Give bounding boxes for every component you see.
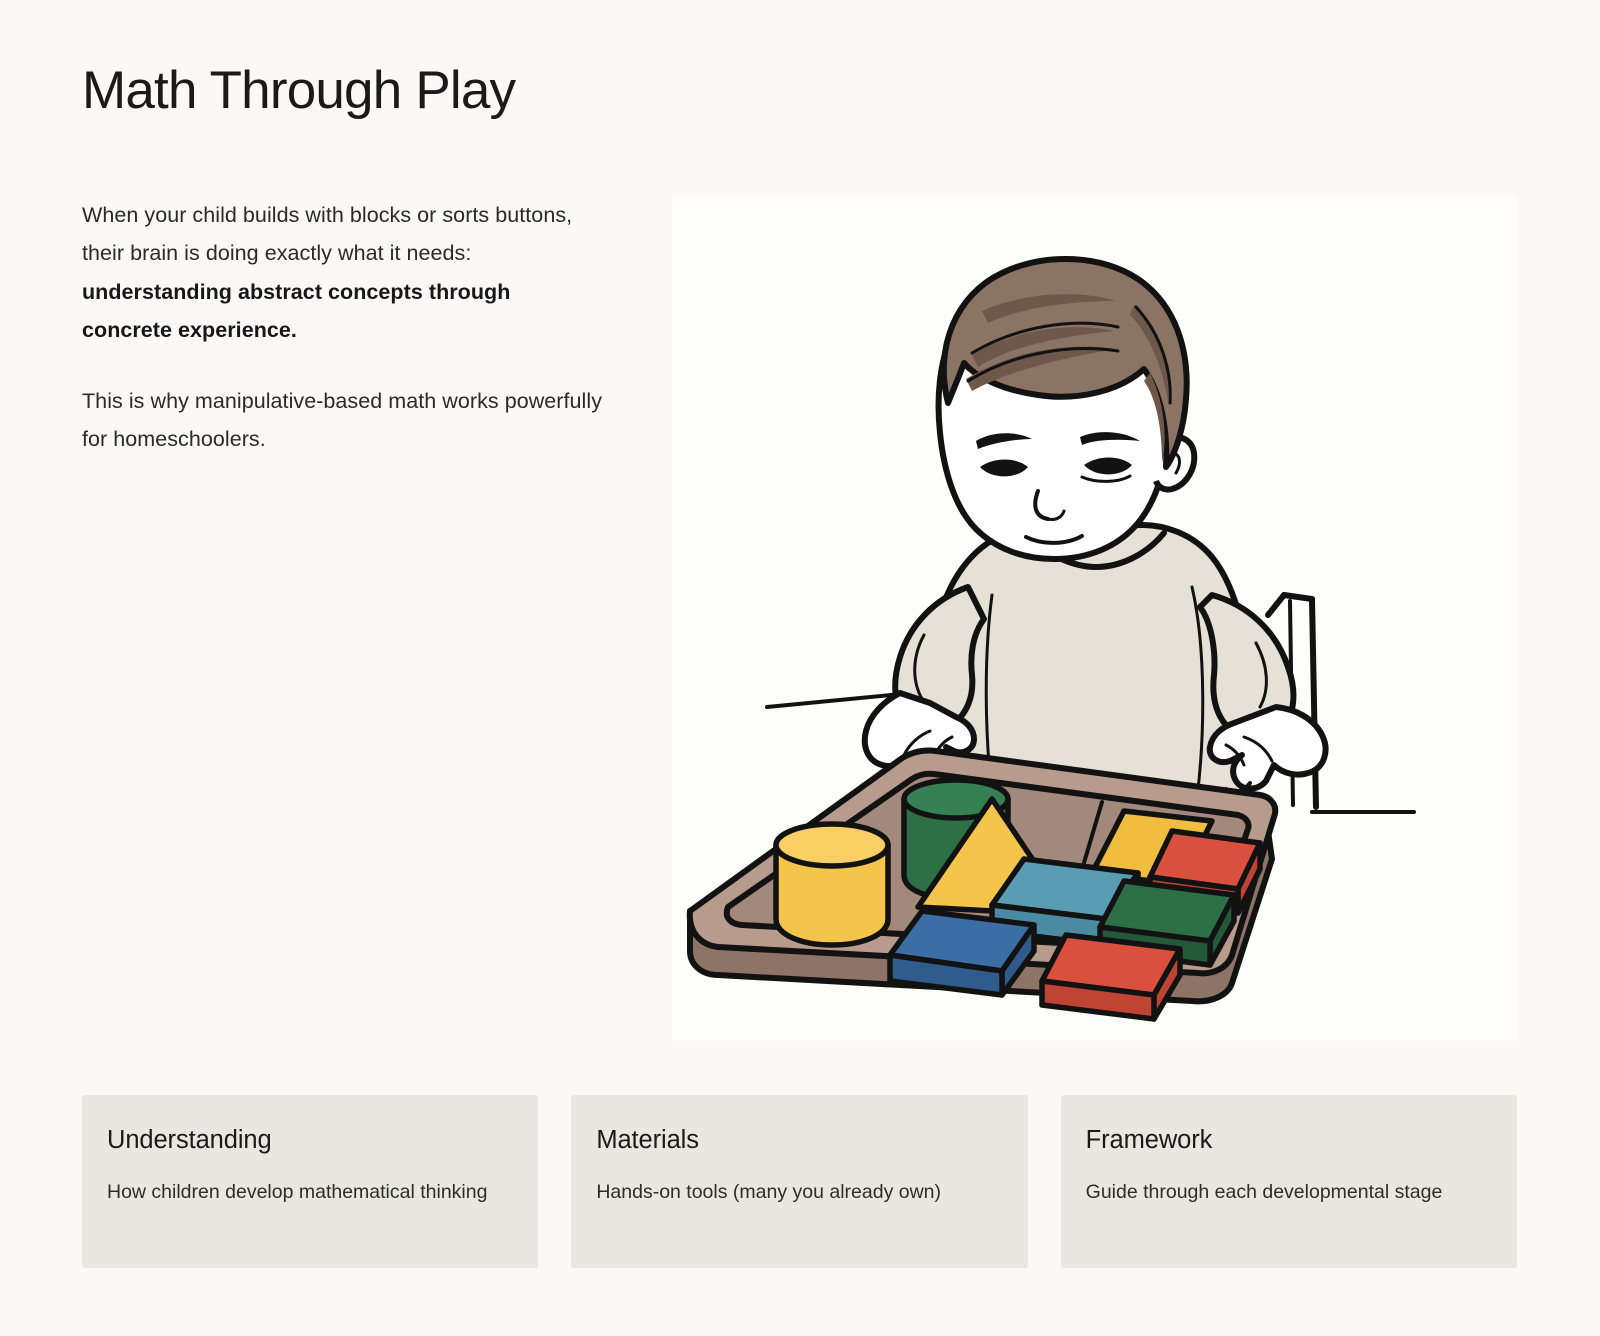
info-card-list: Understanding How children develop mathe…: [82, 1095, 1517, 1268]
intro-paragraph-1-emphasis: understanding abstract concepts through …: [82, 280, 510, 342]
page-root: Math Through Play When your child builds…: [0, 0, 1600, 1336]
info-card-description: How children develop mathematical thinki…: [107, 1176, 513, 1210]
info-card-title: Framework: [1086, 1125, 1492, 1156]
intro-paragraph-2: This is why manipulative-based math work…: [82, 382, 602, 459]
intro-paragraph-1-lead: When your child builds with blocks or so…: [82, 203, 572, 265]
intro-copy: When your child builds with blocks or so…: [82, 196, 602, 459]
info-card-materials[interactable]: Materials Hands-on tools (many you alrea…: [571, 1095, 1027, 1268]
info-card-title: Materials: [596, 1125, 1002, 1156]
illustration-panel: .ln { fill:none; stroke:#121212; stroke-…: [672, 195, 1517, 1041]
block-red-bottom: [1042, 935, 1180, 1019]
page-title: Math Through Play: [82, 60, 515, 123]
info-card-understanding[interactable]: Understanding How children develop mathe…: [82, 1095, 538, 1268]
child-with-blocks-illustration: .ln { fill:none; stroke:#121212; stroke-…: [672, 195, 1517, 1041]
info-card-description: Hands-on tools (many you already own): [596, 1176, 1002, 1210]
info-card-title: Understanding: [107, 1125, 513, 1156]
block-yellow-cylinder: [776, 824, 888, 945]
intro-paragraph-1: When your child builds with blocks or so…: [82, 196, 602, 349]
info-card-framework[interactable]: Framework Guide through each development…: [1061, 1095, 1517, 1268]
block-dark-blue: [890, 911, 1034, 995]
info-card-description: Guide through each developmental stage: [1086, 1176, 1492, 1210]
